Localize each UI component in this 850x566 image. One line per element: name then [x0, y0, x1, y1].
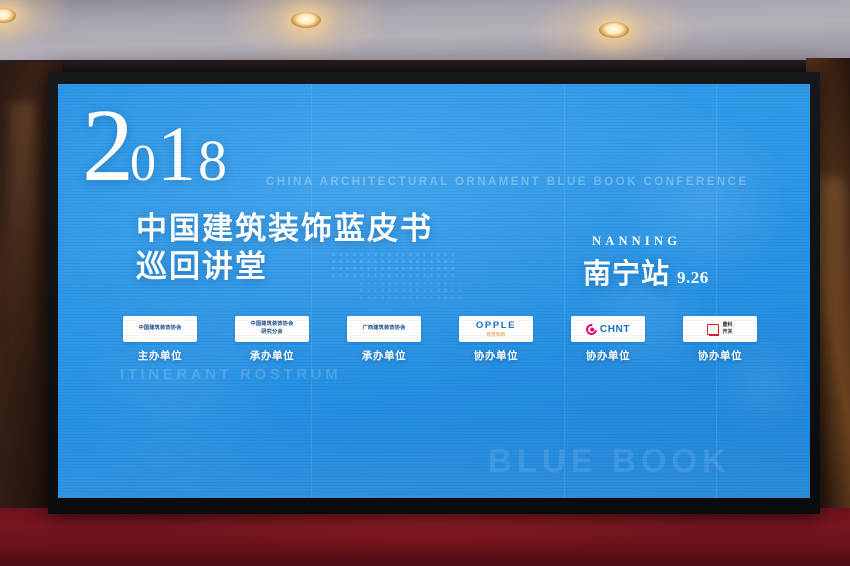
city-block: NANNING 南宁站 9.26 [583, 234, 709, 292]
sponsor-role: 承办单位 [250, 348, 294, 363]
sponsor-role: 承办单位 [362, 348, 406, 363]
english-subtitle: CHINA ARCHITECTURAL ORNAMENT BLUE BOOK C… [266, 176, 749, 188]
city-chinese: 南宁站 [583, 252, 670, 292]
sponsor-item: 中国建筑装饰协会 研究分会 承办单位 [222, 316, 322, 363]
decor-itinerant-rostrum: ITINERANT ROSTRUM [120, 366, 341, 383]
sponsor-logo-card: 中国建筑装饰协会 [123, 316, 197, 342]
chnt-swirl-icon [584, 321, 599, 336]
headline-line-1: 中国建筑装饰蓝皮书 [136, 210, 433, 248]
year-digit-2: 2 [82, 94, 134, 198]
sponsor-role: 主办单位 [138, 348, 182, 363]
manke-name-line-2: 开关 [722, 329, 732, 336]
year-2018: 2018 [82, 94, 227, 198]
conference-room: 2018 CHINA ARCHITECTURAL ORNAMENT BLUE B… [0, 0, 850, 566]
year-digit-0: 0 [130, 138, 156, 190]
dot-grid-decor [358, 280, 466, 302]
led-screen-bezel: 2018 CHINA ARCHITECTURAL ORNAMENT BLUE B… [48, 72, 820, 514]
sponsor-logo-card: 广西建筑装饰协会 [347, 316, 421, 342]
sponsor-logo-card-manke: 曼科 开关 [683, 316, 757, 342]
sponsor-role: 协办单位 [586, 348, 630, 363]
sponsor-name-line-2: 研究分会 [261, 329, 283, 337]
sponsor-name-line-1: 广西建筑装饰协会 [362, 325, 405, 333]
city-english: NANNING [592, 234, 709, 249]
event-date: 9.26 [677, 268, 709, 288]
sponsor-logo-card-chnt: CHNT [571, 316, 645, 342]
sponsor-row: 中国建筑装饰协会 主办单位 中国建筑装饰协会 研究分会 承办单位 广西建筑装饰协… [110, 316, 770, 363]
sponsor-item: CHNT 协办单位 [558, 316, 658, 363]
downlight-center-icon [291, 12, 321, 28]
sponsor-item: 中国建筑装饰协会 主办单位 [110, 316, 210, 363]
chnt-wordmark: CHNT [600, 324, 630, 335]
year-digit-8: 8 [198, 132, 227, 190]
screen-bottom-glow [58, 428, 810, 498]
year-digit-1: 1 [157, 115, 196, 193]
sponsor-role: 协办单位 [474, 348, 518, 363]
led-screen: 2018 CHINA ARCHITECTURAL ORNAMENT BLUE B… [58, 84, 810, 498]
manke-name-line-1: 曼科 [722, 322, 732, 329]
sponsor-item: 曼科 开关 协办单位 [670, 316, 770, 363]
opple-wordmark: OPPLE [476, 320, 516, 331]
manke-switch-icon [707, 324, 719, 335]
sponsor-name-line-1: 中国建筑装饰协会 [138, 325, 181, 333]
downlight-right-icon [599, 22, 629, 38]
stage-floor [0, 508, 850, 566]
sponsor-logo-card: 中国建筑装饰协会 研究分会 [235, 316, 309, 342]
sponsor-item: OPPLE 欧普照明 协办单位 [446, 316, 546, 363]
sponsor-logo-card-opple: OPPLE 欧普照明 [459, 316, 533, 342]
sponsor-name-line-1: 中国建筑装饰协会 [250, 321, 293, 329]
opple-subtext: 欧普照明 [487, 332, 506, 338]
sponsor-role: 协办单位 [698, 348, 742, 363]
dot-grid-decor [330, 251, 458, 281]
sponsor-item: 广西建筑装饰协会 承办单位 [334, 316, 434, 363]
